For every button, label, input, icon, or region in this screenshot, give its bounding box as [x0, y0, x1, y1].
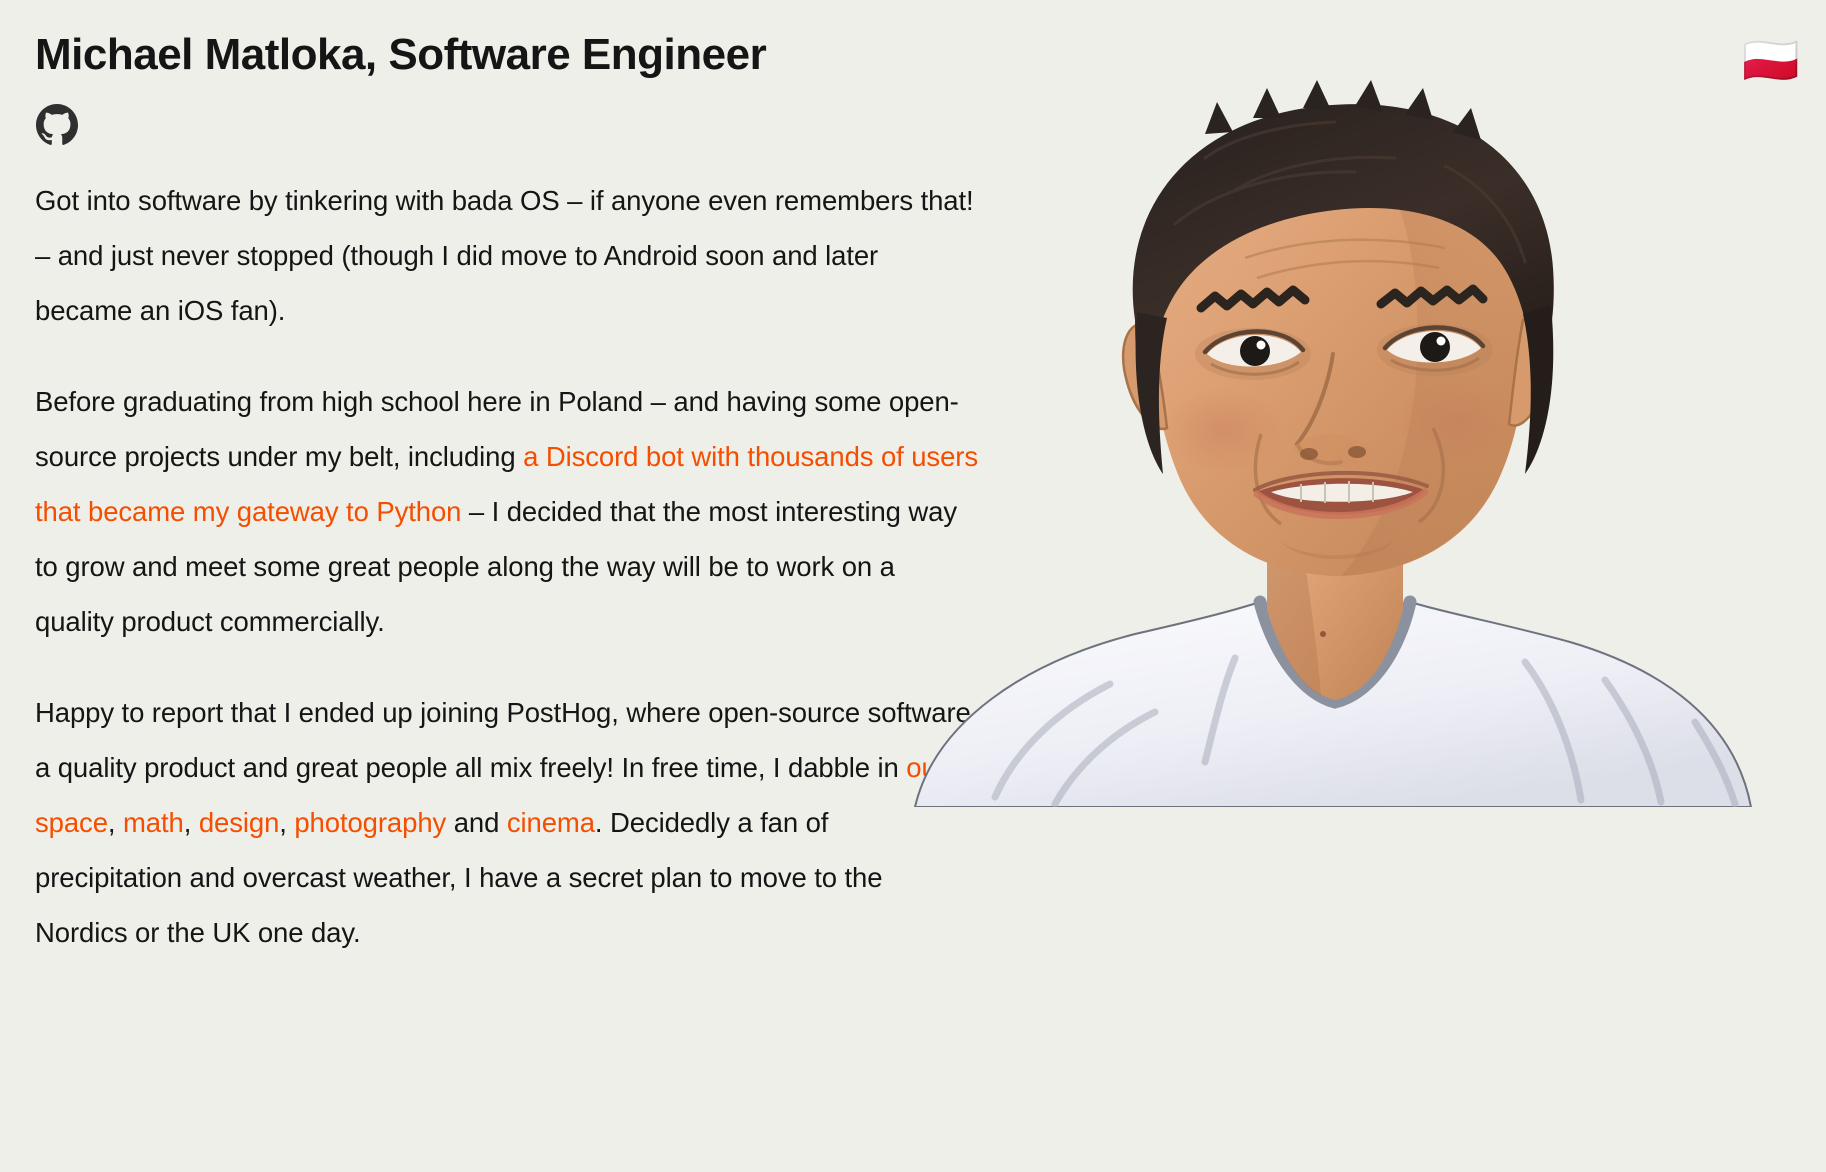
page-title: Michael Matloka, Software Engineer [35, 24, 1010, 81]
bio-link-4[interactable]: photography [294, 807, 446, 838]
bio-text-run: and [446, 807, 507, 838]
bio-paragraph-3: Happy to report that I ended up joining … [35, 685, 980, 960]
portrait-container [905, 62, 1765, 807]
profile-content: Michael Matloka, Software Engineer Got i… [35, 24, 1010, 960]
bio-text-run: , [279, 807, 294, 838]
bio-link-5[interactable]: cinema [507, 807, 595, 838]
bio-body: Got into software by tinkering with bada… [35, 173, 980, 960]
github-icon [36, 104, 78, 146]
bio-text-run: , [184, 807, 199, 838]
profile-page: Michael Matloka, Software Engineer Got i… [0, 0, 1826, 1172]
bio-paragraph-2: Before graduating from high school here … [35, 374, 980, 649]
social-links [35, 103, 1010, 147]
bio-text-run: , [108, 807, 123, 838]
bio-paragraph-1: Got into software by tinkering with bada… [35, 173, 980, 338]
bio-link-3[interactable]: design [199, 807, 279, 838]
bio-link-2[interactable]: math [123, 807, 184, 838]
bio-text-run: Got into software by tinkering with bada… [35, 185, 981, 326]
github-link[interactable] [35, 103, 79, 147]
portrait-illustration [905, 62, 1765, 807]
bio-text-run: Happy to report that I ended up joining … [35, 697, 986, 783]
